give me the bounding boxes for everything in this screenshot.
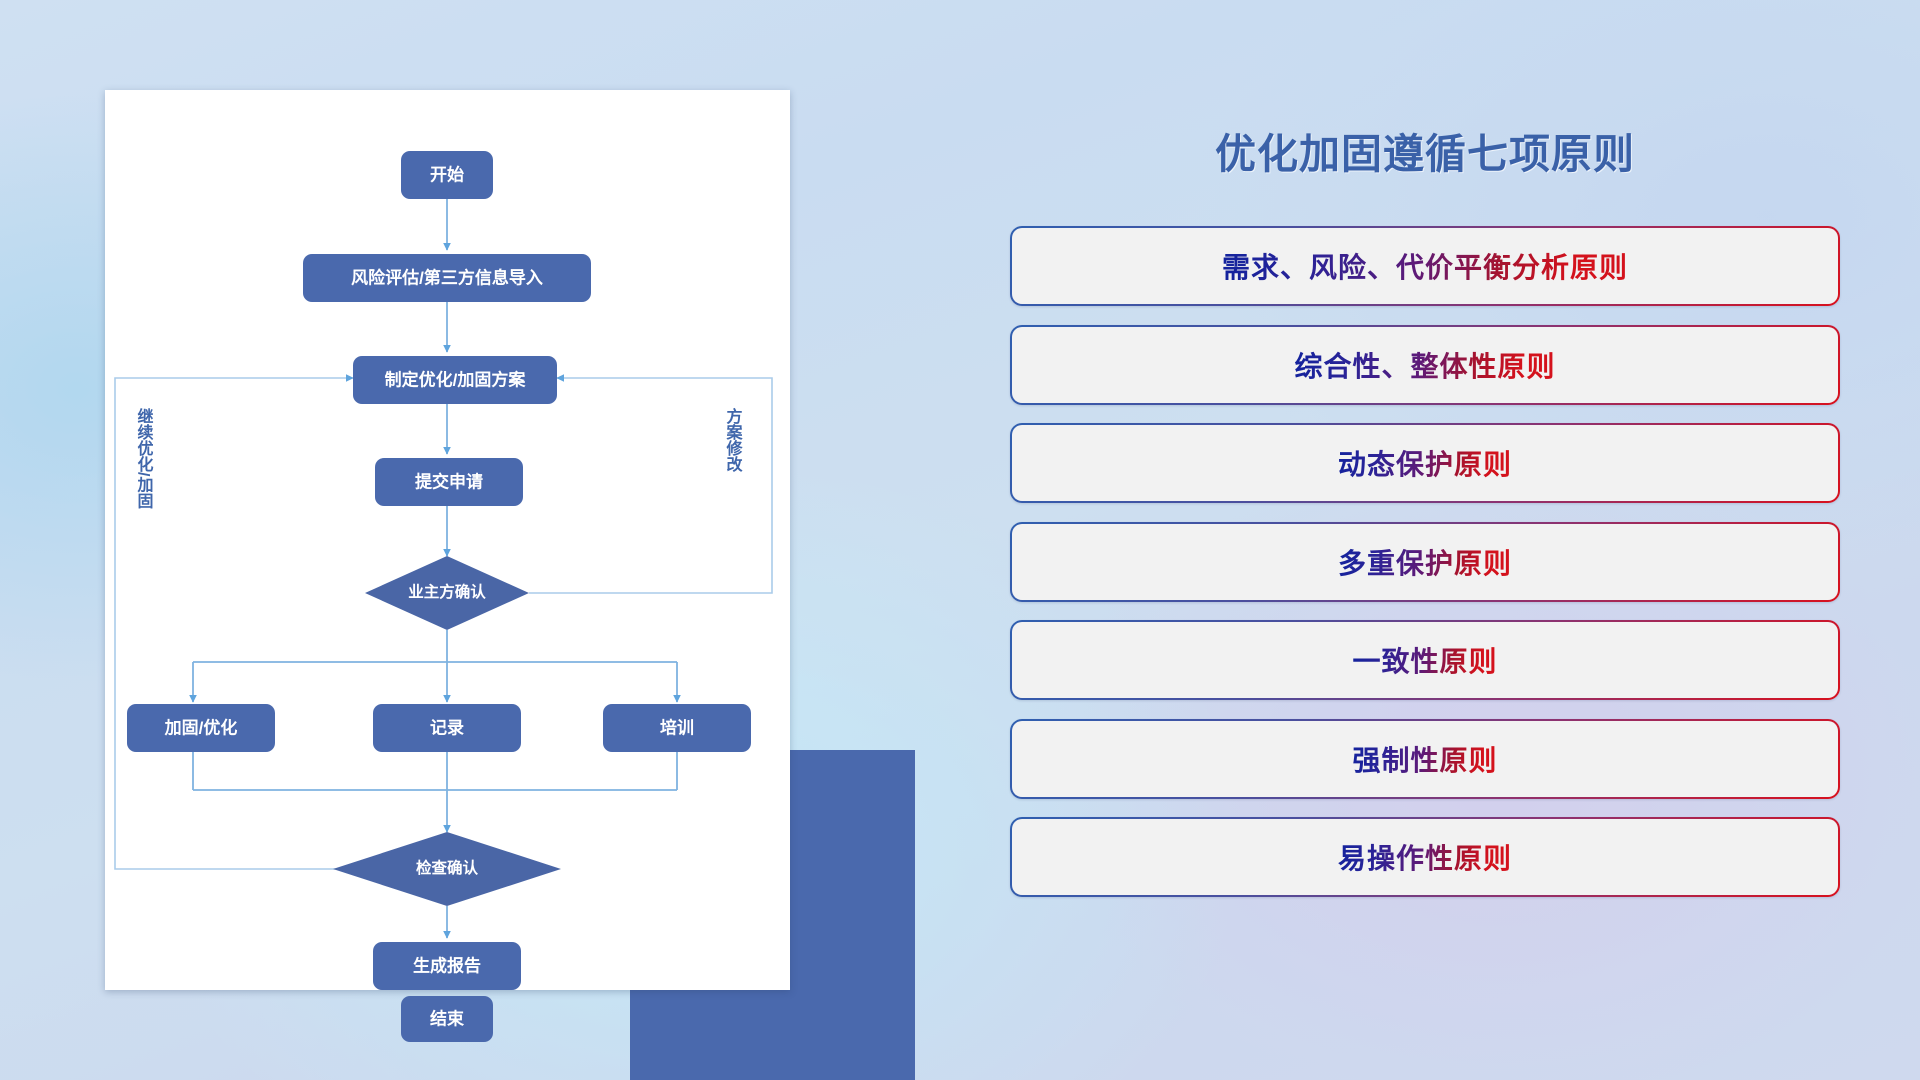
node-start-label: 开始 [430,164,464,184]
principle-label-7: 易操作性原则 [1338,837,1512,877]
flowchart-card: 开始 风险评估/第三方信息导入 制定优化/加固方案 提交申请 业主方确认 加固/… [105,90,790,990]
node-reinforce-label: 加固/优化 [164,717,238,737]
node-check-confirm[interactable]: 检查确认 [333,832,561,906]
principle-label-1: 需求、风险、代价平衡分析原则 [1222,246,1628,286]
principles-panel: 优化加固遵循七项原则 需求、风险、代价平衡分析原则 综合性、整体性原则 动态保护… [1010,88,1840,1018]
node-end-label: 结束 [430,1008,464,1028]
edge-check-loopback [115,378,447,869]
principles-title: 优化加固遵循七项原则 [1010,120,1840,180]
principle-label-5: 一致性原则 [1352,640,1497,680]
node-risk[interactable]: 风险评估/第三方信息导入 [303,254,591,302]
node-record[interactable]: 记录 [373,704,521,752]
node-submit[interactable]: 提交申请 [375,458,523,506]
node-report[interactable]: 生成报告 [373,942,521,990]
node-end[interactable]: 结束 [401,996,493,1042]
node-record-label: 记录 [430,718,464,737]
node-owner-confirm-label: 业主方确认 [408,582,486,601]
principle-card-2[interactable]: 综合性、整体性原则 [1010,325,1840,405]
principle-label-4: 多重保护原则 [1338,542,1512,582]
node-reinforce[interactable]: 加固/优化 [127,704,275,752]
node-train-label: 培训 [660,717,694,737]
node-plan-label: 制定优化/加固方案 [385,369,527,389]
flowchart-diagram-footer: 结束 [105,990,790,1050]
principles-list: 需求、风险、代价平衡分析原则 综合性、整体性原则 动态保护原则 多重保护原则 一… [1010,226,1840,897]
principle-card-5[interactable]: 一致性原则 [1010,620,1840,700]
edge-label-continue-optimize: 继续优化/加固 [135,407,155,509]
node-risk-label: 风险评估/第三方信息导入 [351,267,543,287]
node-plan[interactable]: 制定优化/加固方案 [353,356,557,404]
principle-label-6: 强制性原则 [1352,739,1497,779]
principle-label-3: 动态保护原则 [1338,443,1512,483]
principle-label-2: 综合性、整体性原则 [1294,345,1555,385]
flowchart-panel: 开始 风险评估/第三方信息导入 制定优化/加固方案 提交申请 业主方确认 加固/… [105,90,790,990]
node-report-label: 生成报告 [413,955,481,975]
principle-card-7[interactable]: 易操作性原则 [1010,817,1840,897]
node-start[interactable]: 开始 [401,151,493,199]
node-owner-confirm[interactable]: 业主方确认 [365,556,529,630]
principle-card-4[interactable]: 多重保护原则 [1010,522,1840,602]
node-check-confirm-label: 检查确认 [416,858,479,877]
edge-label-plan-revision: 方案修改 [724,407,744,473]
node-submit-label: 提交申请 [415,471,483,491]
principle-card-1[interactable]: 需求、风险、代价平衡分析原则 [1010,226,1840,306]
flowchart-diagram: 开始 风险评估/第三方信息导入 制定优化/加固方案 提交申请 业主方确认 加固/… [105,90,790,990]
node-train[interactable]: 培训 [603,704,751,752]
principle-card-3[interactable]: 动态保护原则 [1010,423,1840,503]
principle-card-6[interactable]: 强制性原则 [1010,719,1840,799]
